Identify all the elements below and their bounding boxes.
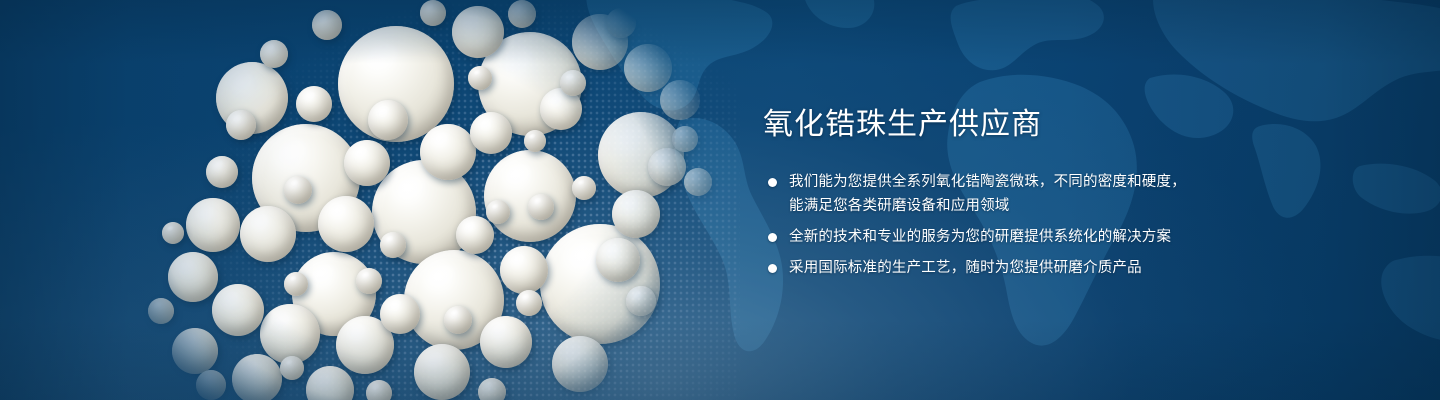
dot-bullet-icon xyxy=(768,233,777,242)
list-item-line: 我们能为您提供全系列氧化锆陶瓷微珠，不同的密度和硬度， xyxy=(789,170,1363,194)
dot-bullet-icon xyxy=(768,264,777,273)
dot-bullet-icon xyxy=(768,178,777,187)
list-item-line: 全新的技术和专业的服务为您的研磨提供系统化的解决方案 xyxy=(789,225,1363,249)
hero-banner: 氧化锆珠生产供应商 我们能为您提供全系列氧化锆陶瓷微珠，不同的密度和硬度， 能满… xyxy=(0,0,1440,400)
list-item-line: 采用国际标准的生产工艺，随时为您提供研磨介质产品 xyxy=(789,256,1363,280)
banner-content: 氧化锆珠生产供应商 我们能为您提供全系列氧化锆陶瓷微珠，不同的密度和硬度， 能满… xyxy=(763,108,1363,280)
list-item: 我们能为您提供全系列氧化锆陶瓷微珠，不同的密度和硬度， 能满足您各类研磨设备和应… xyxy=(763,170,1363,218)
list-item: 全新的技术和专业的服务为您的研磨提供系统化的解决方案 xyxy=(763,225,1363,249)
feature-list: 我们能为您提供全系列氧化锆陶瓷微珠，不同的密度和硬度， 能满足您各类研磨设备和应… xyxy=(763,170,1363,280)
list-item-line: 能满足您各类研磨设备和应用领域 xyxy=(789,194,1363,218)
list-item: 采用国际标准的生产工艺，随时为您提供研磨介质产品 xyxy=(763,256,1363,280)
page-title: 氧化锆珠生产供应商 xyxy=(763,108,1363,142)
